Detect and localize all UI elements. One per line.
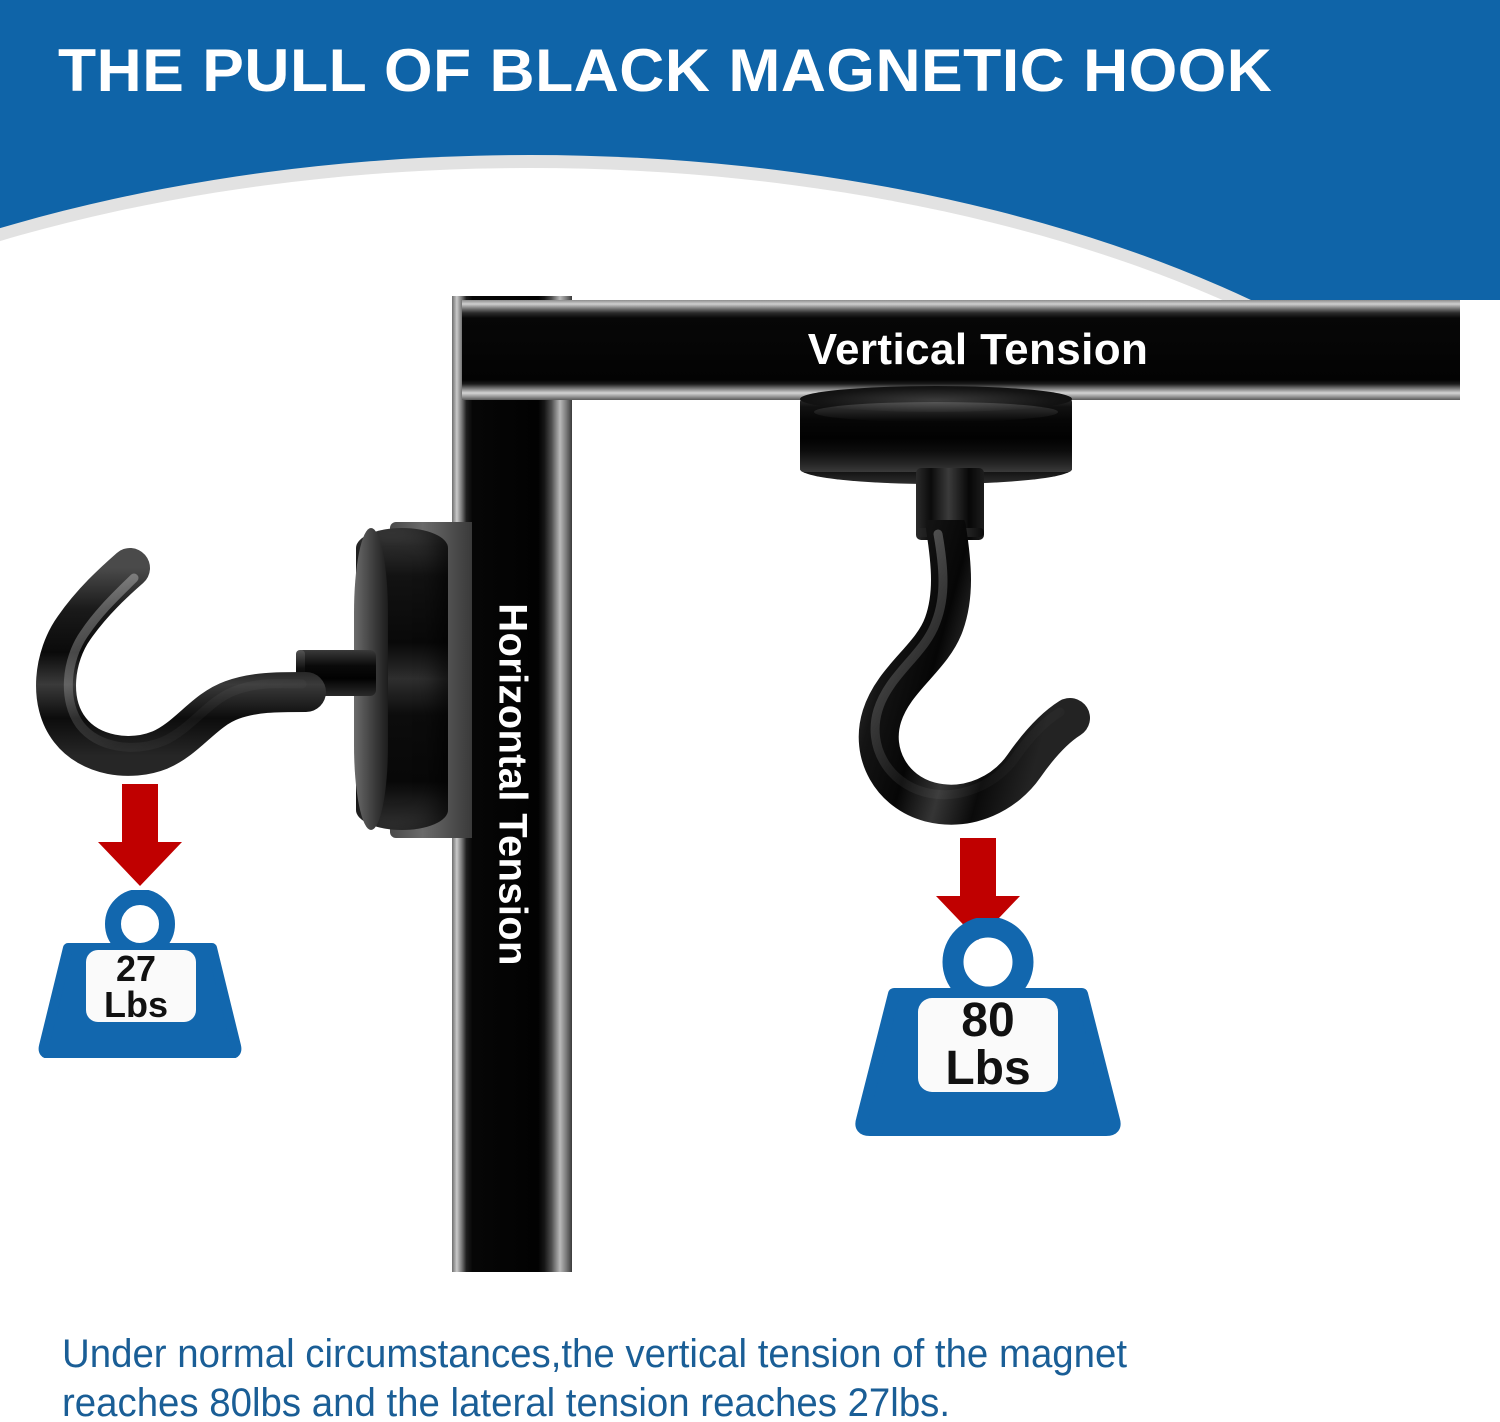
weight-value-vertical: 80 <box>961 997 1014 1045</box>
caption-line-1: Under normal circumstances,the vertical … <box>62 1330 1396 1379</box>
magnetic-hook-vertical-icon <box>848 520 1118 850</box>
down-arrow-icon <box>96 784 184 888</box>
page-title: THE PULL OF BLACK MAGNETIC HOOK <box>58 41 1272 101</box>
header-banner: THE PULL OF BLACK MAGNETIC HOOK <box>0 0 1500 300</box>
weight-unit-horizontal: Lbs <box>104 987 168 1023</box>
infographic-canvas: THE PULL OF BLACK MAGNETIC HOOK Horizont… <box>0 0 1500 1422</box>
caption-text: Under normal circumstances,the vertical … <box>62 1330 1396 1422</box>
magnetic-hook-horizontal-icon <box>18 524 348 814</box>
caption-line-2: reaches 80lbs and the lateral tension re… <box>62 1379 1396 1422</box>
weight-unit-vertical: Lbs <box>945 1045 1030 1093</box>
vertical-tension-label: Vertical Tension <box>462 300 1460 400</box>
weight-value-horizontal: 27 <box>116 951 156 987</box>
magnet-disc-highlight <box>814 402 1058 422</box>
horizontal-tension-label: Horizontal Tension <box>490 603 535 965</box>
vertical-tension-surface: Vertical Tension <box>462 300 1460 400</box>
